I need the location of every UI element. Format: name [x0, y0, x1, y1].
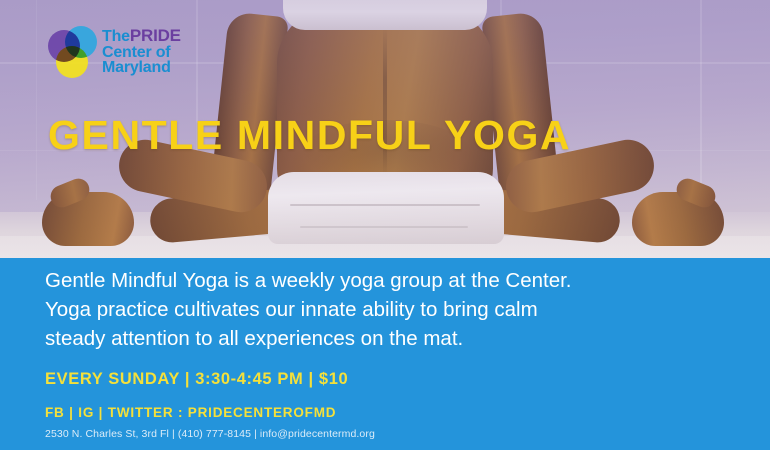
event-description: Gentle Mindful Yoga is a weekly yoga gro… — [45, 266, 735, 353]
social-handles: FB | IG | TWITTER : PRIDECENTEROFMD — [45, 405, 336, 420]
info-panel: Gentle Mindful Yoga is a weekly yoga gro… — [0, 258, 770, 450]
event-title: GENTLE MINDFUL YOGA — [48, 112, 571, 159]
schedule-and-price: EVERY SUNDAY | 3:30-4:45 PM | $10 — [45, 370, 348, 389]
description-line-2: Yoga practice cultivates our innate abil… — [45, 295, 735, 324]
logo-circles-icon — [48, 24, 98, 80]
logo-line-2: Center of — [102, 45, 181, 61]
logo-pride: PRIDE — [130, 26, 181, 45]
logo-wordmark: ThePRIDE Center of Maryland — [102, 28, 181, 76]
logo-line-3: Maryland — [102, 60, 181, 76]
logo-line-1: ThePRIDE — [102, 28, 181, 45]
yoga-event-flyer: ThePRIDE Center of Maryland GENTLE MINDF… — [0, 0, 770, 450]
logo-the: The — [102, 28, 130, 45]
description-line-3: steady attention to all experiences on t… — [45, 324, 735, 353]
pride-center-logo: ThePRIDE Center of Maryland — [48, 20, 224, 84]
contact-info: 2530 N. Charles St, 3rd Fl | (410) 777-8… — [45, 428, 375, 440]
logo-circle-yellow — [56, 46, 88, 78]
description-line-1: Gentle Mindful Yoga is a weekly yoga gro… — [45, 266, 735, 295]
